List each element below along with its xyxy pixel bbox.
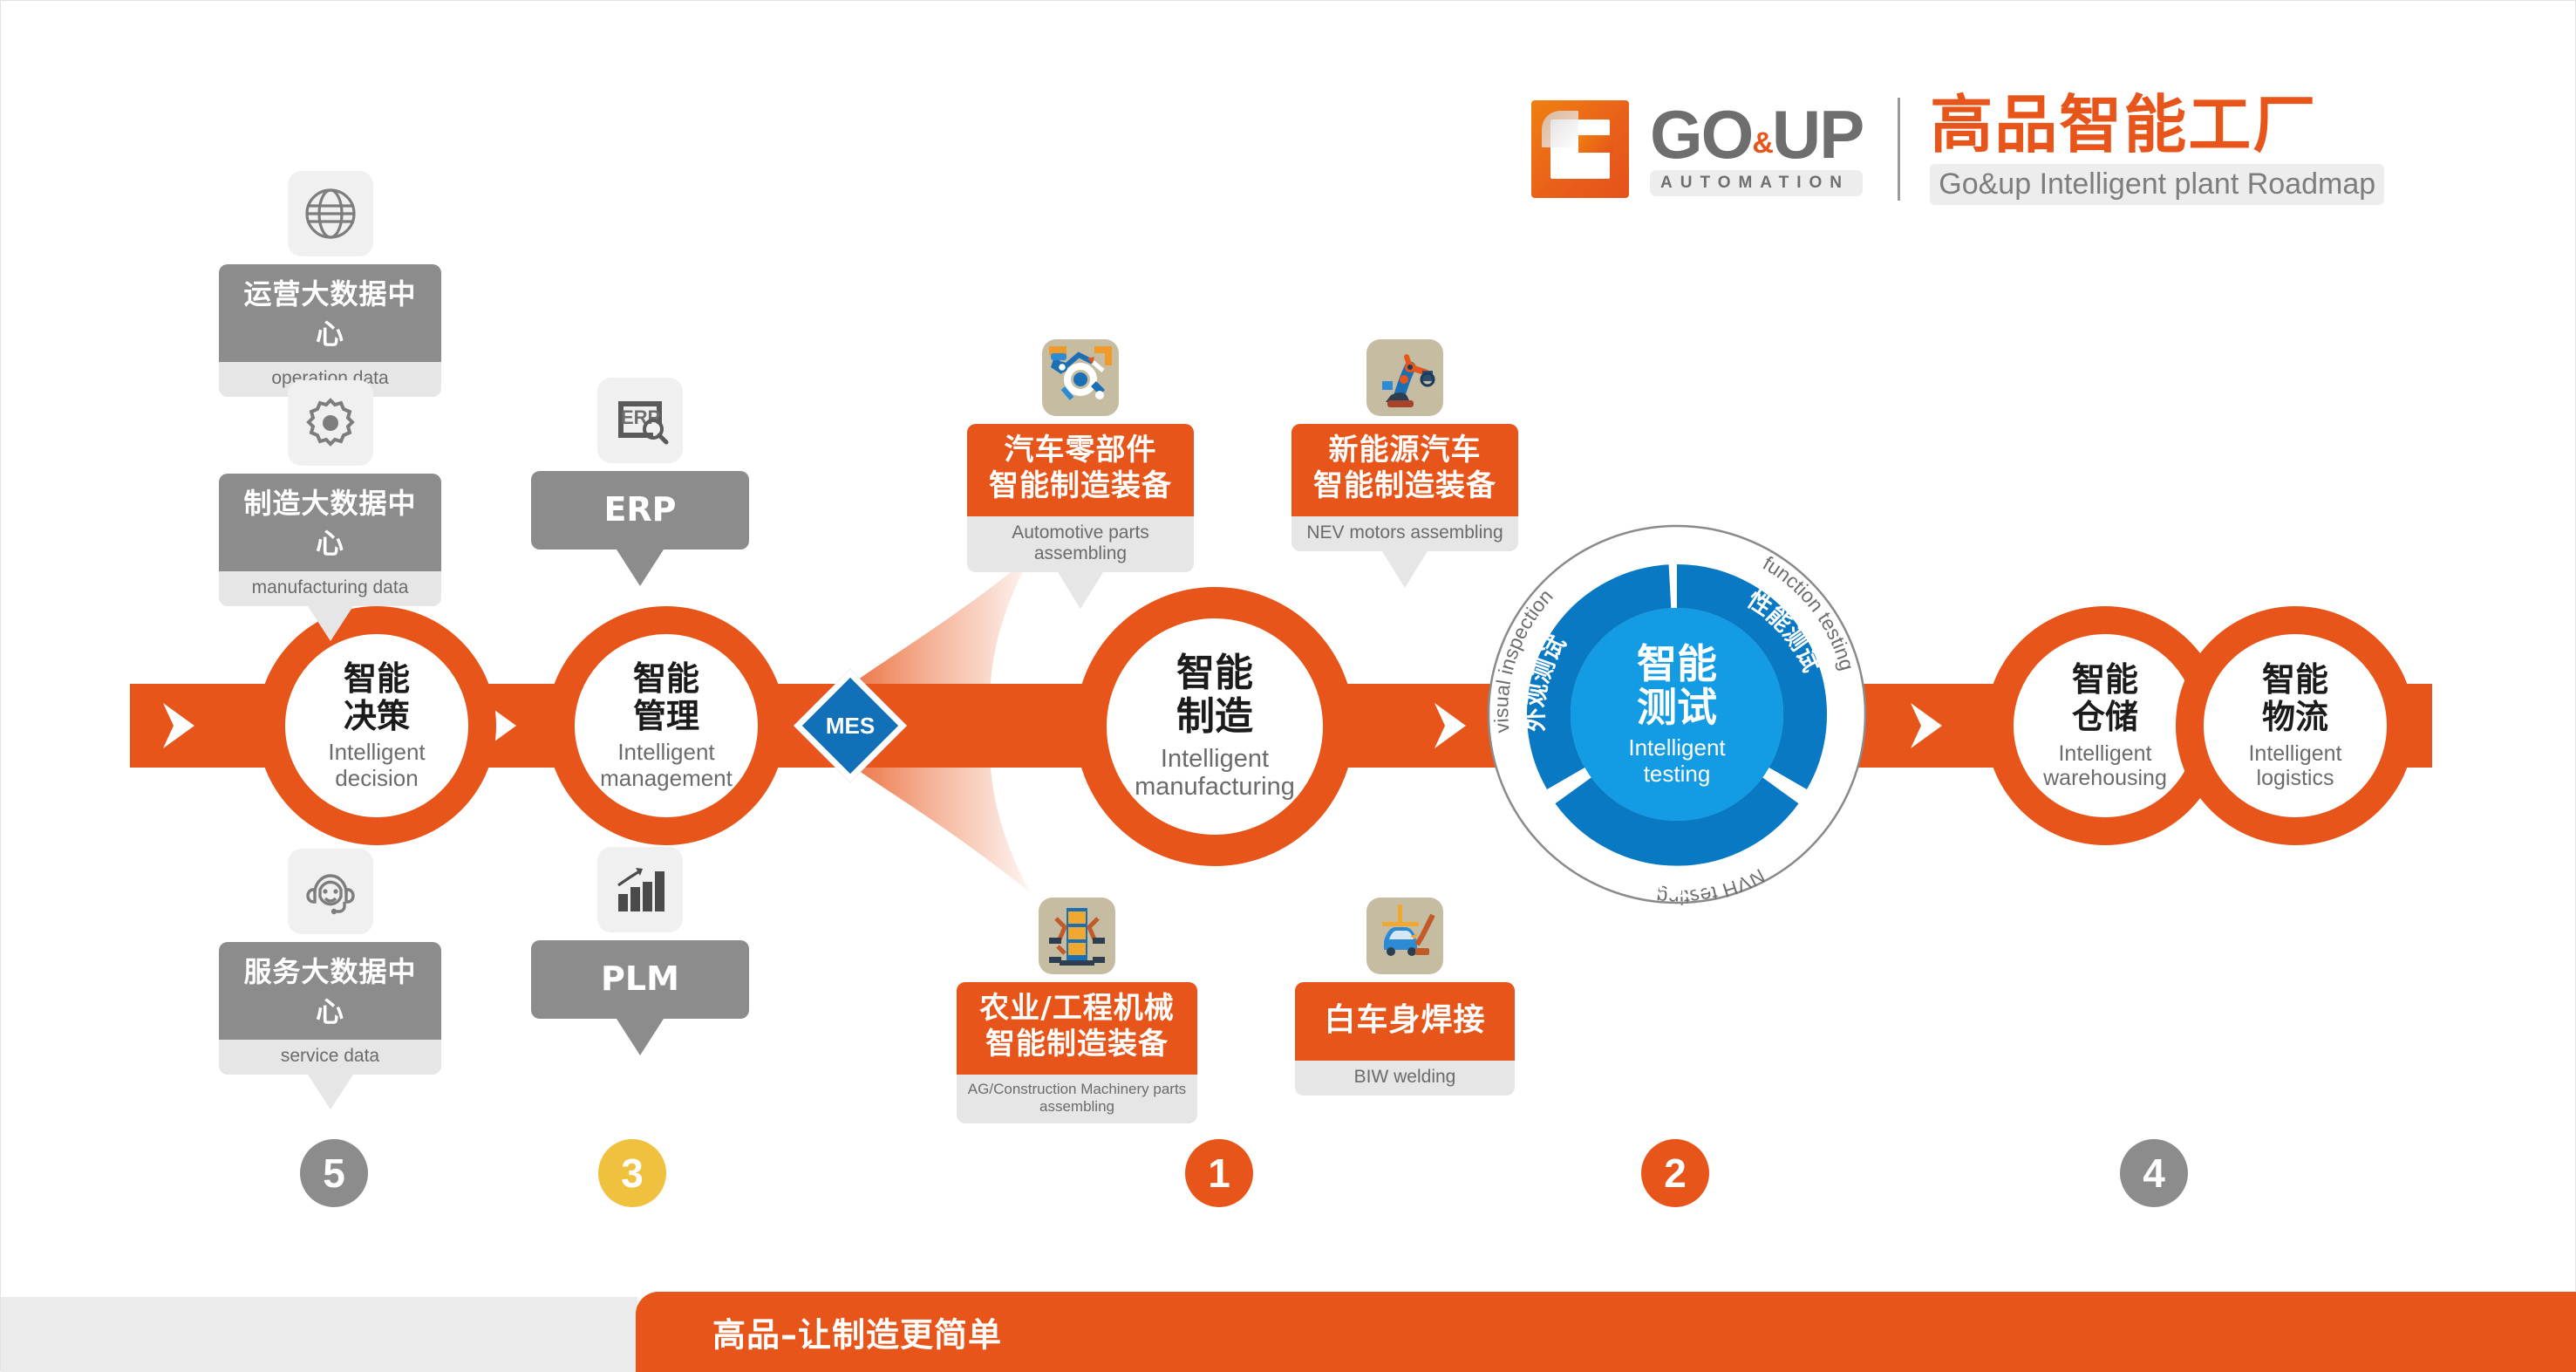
headset-icon [288, 849, 373, 934]
stage-en-line1: Intelligent [1135, 745, 1295, 773]
goup-logo-mark [1531, 100, 1629, 198]
brand-up: UP [1772, 96, 1863, 173]
badge-number: 4 [2143, 1150, 2165, 1197]
donut-core: 智能 测试 Intelligent testing [1571, 608, 1783, 821]
stage-circle-intelligent-decision[interactable]: 智能 决策 Intelligent decision [257, 606, 496, 845]
equipment-cn-line1: 新能源汽车 [1302, 433, 1508, 468]
callout-automotive-parts[interactable]: 汽车零部件 智能制造装备 Automotive parts assembling [967, 339, 1194, 609]
testing-core-cn-line1: 智能 [1637, 642, 1717, 686]
equipment-cn-line2: 智能制造装备 [1302, 468, 1508, 504]
stage-en-line1: Intelligent [2248, 741, 2341, 766]
step-badge-3[interactable]: 3 [598, 1139, 666, 1207]
stage-en-line2: decision [328, 766, 425, 791]
stage-cn-line1: 智能 [344, 660, 410, 698]
testing-core-en-line1: Intelligent [1628, 735, 1725, 761]
globe-icon [288, 171, 373, 256]
erp-screen-icon: ERP [597, 378, 683, 463]
step-badge-4[interactable]: 4 [2120, 1139, 2188, 1207]
callout-tail [1382, 551, 1428, 588]
palletizing-icon [1039, 898, 1115, 974]
robot-gear-icon [1042, 339, 1119, 416]
footer-left-block [1, 1297, 637, 1372]
callout-ag-construction[interactable]: 农业/工程机械 智能制造装备 AG/Construction Machinery… [957, 898, 1197, 1123]
svg-text:ERP: ERP [621, 406, 660, 428]
header-divider [1898, 98, 1900, 201]
stage-en-line2: management [600, 766, 733, 791]
brand-tagline: AUTOMATION [1650, 170, 1863, 196]
equipment-title-en: AG/Construction Machinery parts assembli… [957, 1075, 1197, 1123]
chevron-right-icon-4 [1902, 696, 1947, 755]
callout-title-en: service data [219, 1040, 441, 1075]
stage-cn-line1: 智能 [1176, 652, 1253, 694]
page-title-cn: 高品智能工厂 [1930, 93, 2384, 157]
badge-number: 1 [1208, 1150, 1230, 1197]
callout-title-cn: 运营大数据中心 [219, 264, 441, 362]
callout-tail [308, 606, 353, 641]
stage-circle-intelligent-manufacturing[interactable]: 智能 制造 Intelligent manufacturing [1075, 587, 1354, 866]
stage-cn-line2: 制造 [1176, 695, 1253, 738]
robot-arm-icon [1366, 339, 1443, 416]
stage-en-line2: warehousing [2043, 766, 2167, 790]
equipment-cn-line2: 智能制造装备 [978, 468, 1183, 504]
footer-banner: 高品–让制造更简单 [636, 1292, 2576, 1372]
callout-manufacturing-data[interactable]: 制造大数据中心 manufacturing data [219, 380, 441, 641]
stage-circle-intelligent-logistics[interactable]: 智能 物流 Intelligent logistics [2176, 606, 2415, 845]
callout-tail [617, 549, 664, 586]
mes-label: MES [816, 692, 884, 760]
stage-cn-line1: 智能 [2072, 661, 2138, 699]
chevron-right-icon-1 [154, 696, 200, 755]
badge-number: 5 [323, 1150, 345, 1197]
stage-cn-line2: 仓储 [2072, 699, 2138, 736]
testing-core-cn-line2: 测试 [1637, 686, 1717, 730]
equipment-title-cn: 汽车零部件 智能制造装备 [967, 424, 1194, 516]
equipment-cn-line1: 农业/工程机械 [967, 991, 1187, 1027]
gear-icon [288, 380, 373, 466]
equipment-title-en: Automotive parts assembling [967, 516, 1194, 572]
stage-cn-line2: 管理 [633, 698, 699, 735]
testing-core-en-line2: testing [1628, 761, 1725, 788]
stage-cn-line1: 智能 [633, 660, 699, 698]
page-title-en: Go&up Intelligent plant Roadmap [1930, 164, 2384, 205]
footer-slogan: 高品–让制造更简单 [712, 1308, 1002, 1356]
stage-en-line1: Intelligent [328, 740, 425, 765]
step-badge-2[interactable]: 2 [1641, 1139, 1709, 1207]
stage-en-line2: manufacturing [1135, 773, 1295, 801]
stage-en-line2: logistics [2248, 766, 2341, 790]
system-label: ERP [531, 471, 749, 549]
stage-en-line1: Intelligent [600, 740, 733, 765]
callout-erp[interactable]: ERP ERP [531, 378, 749, 586]
step-badge-1[interactable]: 1 [1185, 1139, 1253, 1207]
equipment-title-cn: 新能源汽车 智能制造装备 [1291, 424, 1518, 516]
intelligent-testing-donut[interactable]: visual inspection function testing NVH t… [1485, 522, 1869, 906]
stage-en-line1: Intelligent [2043, 741, 2167, 766]
system-label: PLM [531, 940, 749, 1019]
infographic-canvas: GO&UP AUTOMATION 高品智能工厂 Go&up Intelligen… [0, 0, 2576, 1371]
stage-cn-line1: 智能 [2262, 661, 2328, 699]
equipment-title-en: BIW welding [1295, 1061, 1515, 1096]
stage-circle-intelligent-management[interactable]: 智能 管理 Intelligent management [547, 606, 786, 845]
equipment-cn-line2: 智能制造装备 [967, 1027, 1187, 1062]
equipment-title-cn: 白车身焊接 [1295, 982, 1515, 1061]
callout-service-data[interactable]: 服务大数据中心 service data [219, 849, 441, 1109]
stage-cn-line2: 物流 [2262, 699, 2328, 736]
bar-chart-icon [597, 847, 683, 932]
chevron-right-icon-3 [1426, 696, 1471, 755]
callout-tail [308, 1075, 353, 1109]
callout-title-en: manufacturing data [219, 571, 441, 606]
callout-title-cn: 制造大数据中心 [219, 474, 441, 571]
equipment-title-cn: 农业/工程机械 智能制造装备 [957, 982, 1197, 1075]
step-badge-5[interactable]: 5 [300, 1139, 368, 1207]
callout-title-cn: 服务大数据中心 [219, 942, 441, 1040]
brand-go: GO [1650, 96, 1752, 173]
callout-biw-welding[interactable]: 白车身焊接 BIW welding [1295, 898, 1515, 1096]
stage-cn-line2: 决策 [344, 698, 410, 735]
header-logo-block: GO&UP AUTOMATION 高品智能工厂 Go&up Intelligen… [1531, 84, 2499, 215]
callout-plm[interactable]: PLM [531, 847, 749, 1055]
badge-number: 2 [1664, 1150, 1687, 1197]
goup-wordmark: GO&UP AUTOMATION [1650, 102, 1863, 196]
car-welding-icon [1366, 898, 1443, 974]
callout-tail [1058, 572, 1103, 609]
callout-tail [617, 1019, 664, 1055]
callout-nev-motors[interactable]: 新能源汽车 智能制造装备 NEV motors assembling [1291, 339, 1518, 588]
equipment-cn-line1: 汽车零部件 [978, 433, 1183, 468]
equipment-title-en: NEV motors assembling [1291, 516, 1518, 551]
brand-amp: & [1752, 126, 1772, 160]
badge-number: 3 [621, 1150, 644, 1197]
